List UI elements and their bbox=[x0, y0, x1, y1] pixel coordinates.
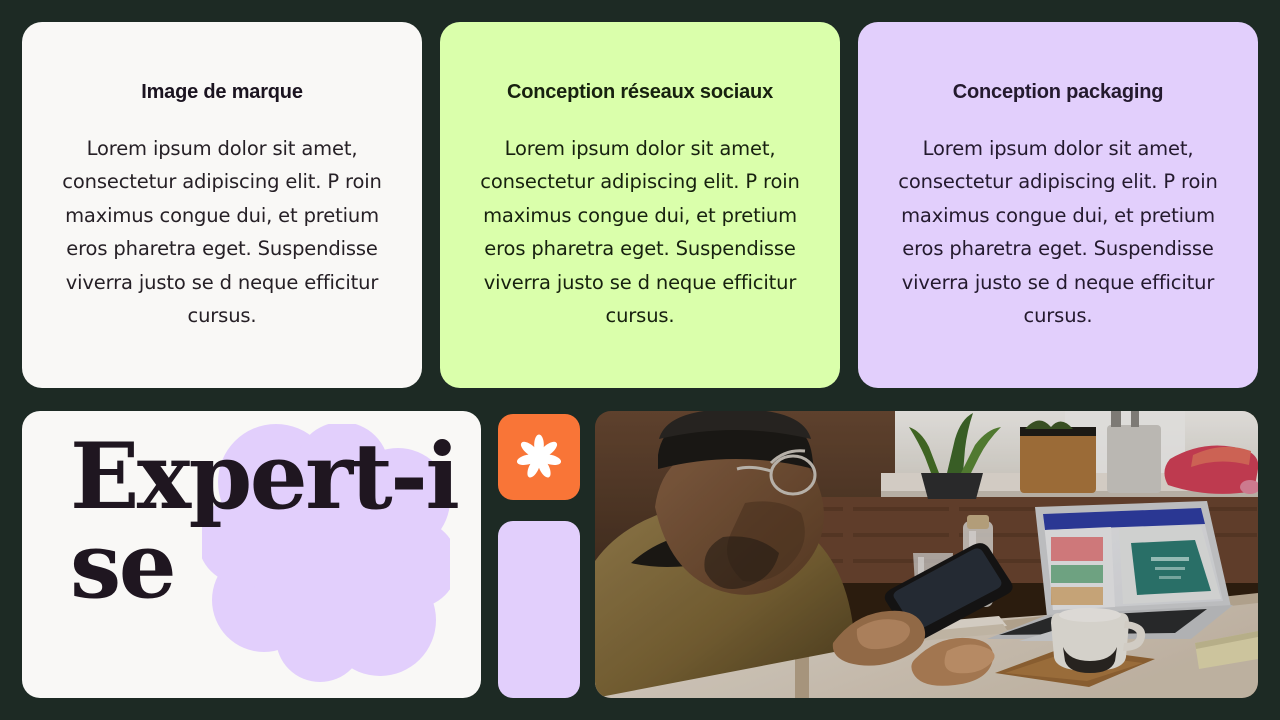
feature-card-conception-packaging[interactable]: Conception packaging Lorem ipsum dolor s… bbox=[858, 22, 1258, 388]
feature-card-image-de-marque[interactable]: Image de marque Lorem ipsum dolor sit am… bbox=[22, 22, 422, 388]
expertise-panel[interactable]: Expert-ise bbox=[22, 411, 481, 698]
feature-card-conception-reseaux-sociaux[interactable]: Conception réseaux sociaux Lorem ipsum d… bbox=[440, 22, 840, 388]
feature-cards-row: Image de marque Lorem ipsum dolor sit am… bbox=[22, 22, 1258, 388]
slide-canvas: Image de marque Lorem ipsum dolor sit am… bbox=[0, 0, 1280, 720]
card-title: Conception réseaux sociaux bbox=[470, 80, 810, 104]
card-body-text: Lorem ipsum dolor sit amet, consectetur … bbox=[888, 132, 1228, 332]
card-body-text: Lorem ipsum dolor sit amet, consectetur … bbox=[52, 132, 392, 332]
flower-icon bbox=[516, 434, 562, 480]
card-title: Image de marque bbox=[52, 80, 392, 104]
tile-stack bbox=[498, 411, 580, 698]
card-body-text: Lorem ipsum dolor sit amet, consectetur … bbox=[470, 132, 810, 332]
expertise-heading: Expert-ise bbox=[70, 433, 470, 611]
photo-illustration bbox=[595, 411, 1258, 698]
blank-tile[interactable] bbox=[498, 521, 580, 698]
flower-tile[interactable] bbox=[498, 414, 580, 500]
bottom-row: Expert-ise bbox=[22, 411, 1258, 698]
card-title: Conception packaging bbox=[888, 80, 1228, 104]
workspace-photo[interactable] bbox=[595, 411, 1258, 698]
